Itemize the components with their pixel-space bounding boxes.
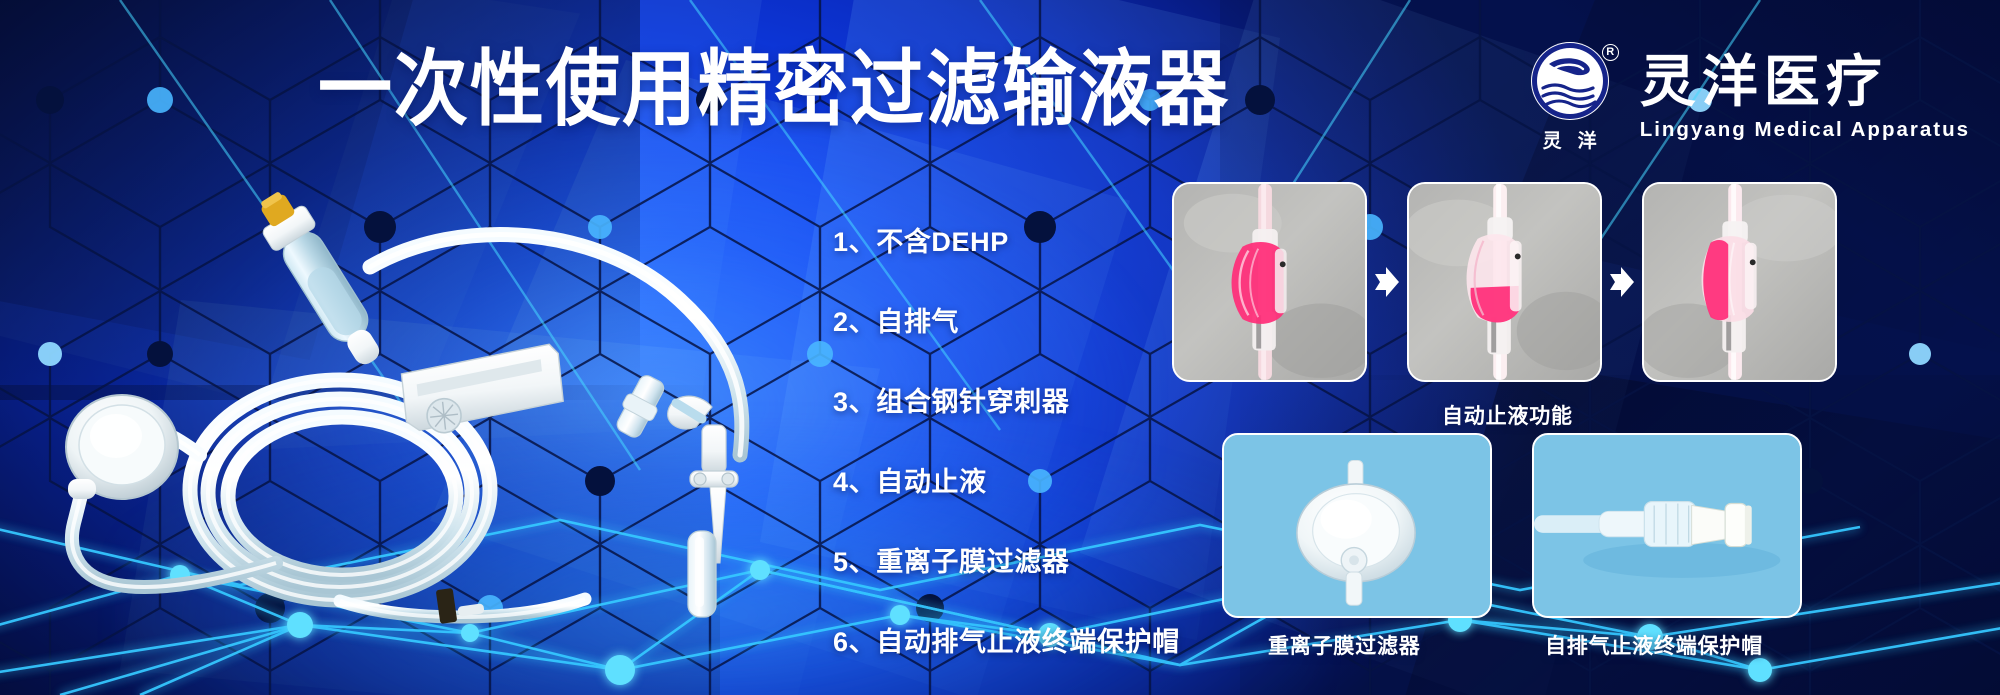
feature-item-2: 2、自排气 [833,300,1180,339]
arrow-right-icon [1610,267,1634,297]
logo-mark: R 灵洋 [1522,42,1618,153]
sequence-photo-3 [1642,182,1837,382]
feature-list: 1、不含DEHP 2、自排气 3、组合钢针穿刺器 4、自动止液 5、重离子膜过滤… [833,220,1180,659]
brand-logo: R 灵洋 灵洋医疗 Lingyang Medical Apparatus [1522,42,1970,153]
company-name-cn: 灵洋医疗 [1640,53,1970,111]
sequence-photo-2 [1407,182,1602,382]
caption-auto-stop-function: 自动止液功能 [1442,400,1573,430]
banner-title: 一次性使用精密过滤输液器 [318,48,1230,131]
registered-trademark-icon: R [1602,44,1619,61]
product-banner: 一次性使用精密过滤输液器 R 灵洋 灵洋医疗 Lingyang Medical … [0,0,2000,695]
feature-item-3: 3、组合钢针穿刺器 [833,380,1180,419]
drip-chamber [248,184,393,375]
component-cards [1222,433,1802,618]
auto-stop-sequence [1172,182,1837,382]
logo-mark-label: 灵洋 [1522,126,1618,153]
caption-heavy-ion-membrane-filter: 重离子膜过滤器 [1268,630,1421,660]
feature-item-6: 6、自动排气止液终端保护帽 [833,620,1180,659]
card-heavy-ion-membrane-filter [1222,433,1492,618]
feature-item-4: 4、自动止液 [833,460,1180,499]
company-name-en: Lingyang Medical Apparatus [1640,118,1970,142]
arrow-right-icon [1375,267,1399,297]
inline-connector [611,371,670,442]
sequence-photo-1 [1172,182,1367,382]
logo-emblem-icon [1531,42,1609,120]
arrow-separator-1 [1367,267,1407,297]
feature-item-1: 1、不含DEHP [833,220,1180,259]
feature-item-5: 5、重离子膜过滤器 [833,540,1180,579]
roller-clamp [400,343,565,436]
needle-cap [688,531,716,617]
brand-text: 灵洋医疗 Lingyang Medical Apparatus [1640,53,1970,141]
filter-disc [66,395,178,499]
card-self-venting-protective-cap [1532,433,1802,618]
product-photo-infusion-set [40,155,800,655]
caption-self-venting-protective-cap: 自排气止液终端保护帽 [1545,630,1763,660]
arrow-separator-2 [1602,267,1642,297]
